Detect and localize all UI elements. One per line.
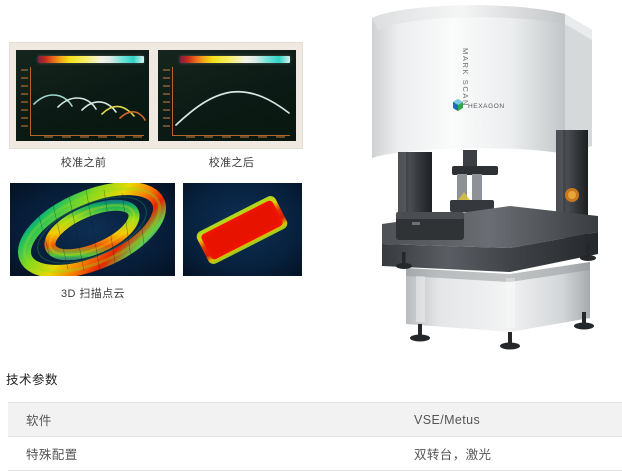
pointcloud-ring-render — [10, 183, 175, 276]
caption-after: 校准之后 — [184, 154, 279, 170]
specs-table-body: 软件 VSE/Metus 特殊配置 双转台，激光 — [8, 403, 622, 471]
pointcloud-plate-render — [183, 183, 302, 276]
technical-specifications: 技术参数 软件 VSE/Metus 特殊配置 双转台，激光 — [0, 363, 622, 471]
trace-before — [16, 50, 149, 141]
table-row: 软件 VSE/Metus — [8, 403, 622, 437]
trace-after — [158, 50, 296, 141]
interferogram-before-image — [16, 50, 149, 141]
specs-heading: 技术参数 — [0, 363, 622, 388]
caption-before: 校准之前 — [36, 154, 131, 170]
image-gallery: 校准之前 校准之后 — [0, 0, 330, 360]
specs-table: 软件 VSE/Metus 特殊配置 双转台，激光 — [8, 402, 622, 471]
machine-render: MARK SCAN HEXAGON — [360, 0, 622, 360]
svg-text:HEXAGON: HEXAGON — [468, 103, 505, 110]
spec-value: VSE/Metus — [396, 403, 622, 437]
machine-photo: MARK SCAN HEXAGON — [360, 0, 622, 360]
pointcloud-ring-image — [10, 183, 175, 276]
machine-model-label: MARK SCAN — [461, 48, 470, 107]
spec-key: 软件 — [8, 403, 396, 437]
caption-pointcloud: 3D 扫描点云 — [34, 285, 152, 301]
interferogram-after-image — [158, 50, 296, 141]
pointcloud-plate-image — [183, 183, 302, 276]
